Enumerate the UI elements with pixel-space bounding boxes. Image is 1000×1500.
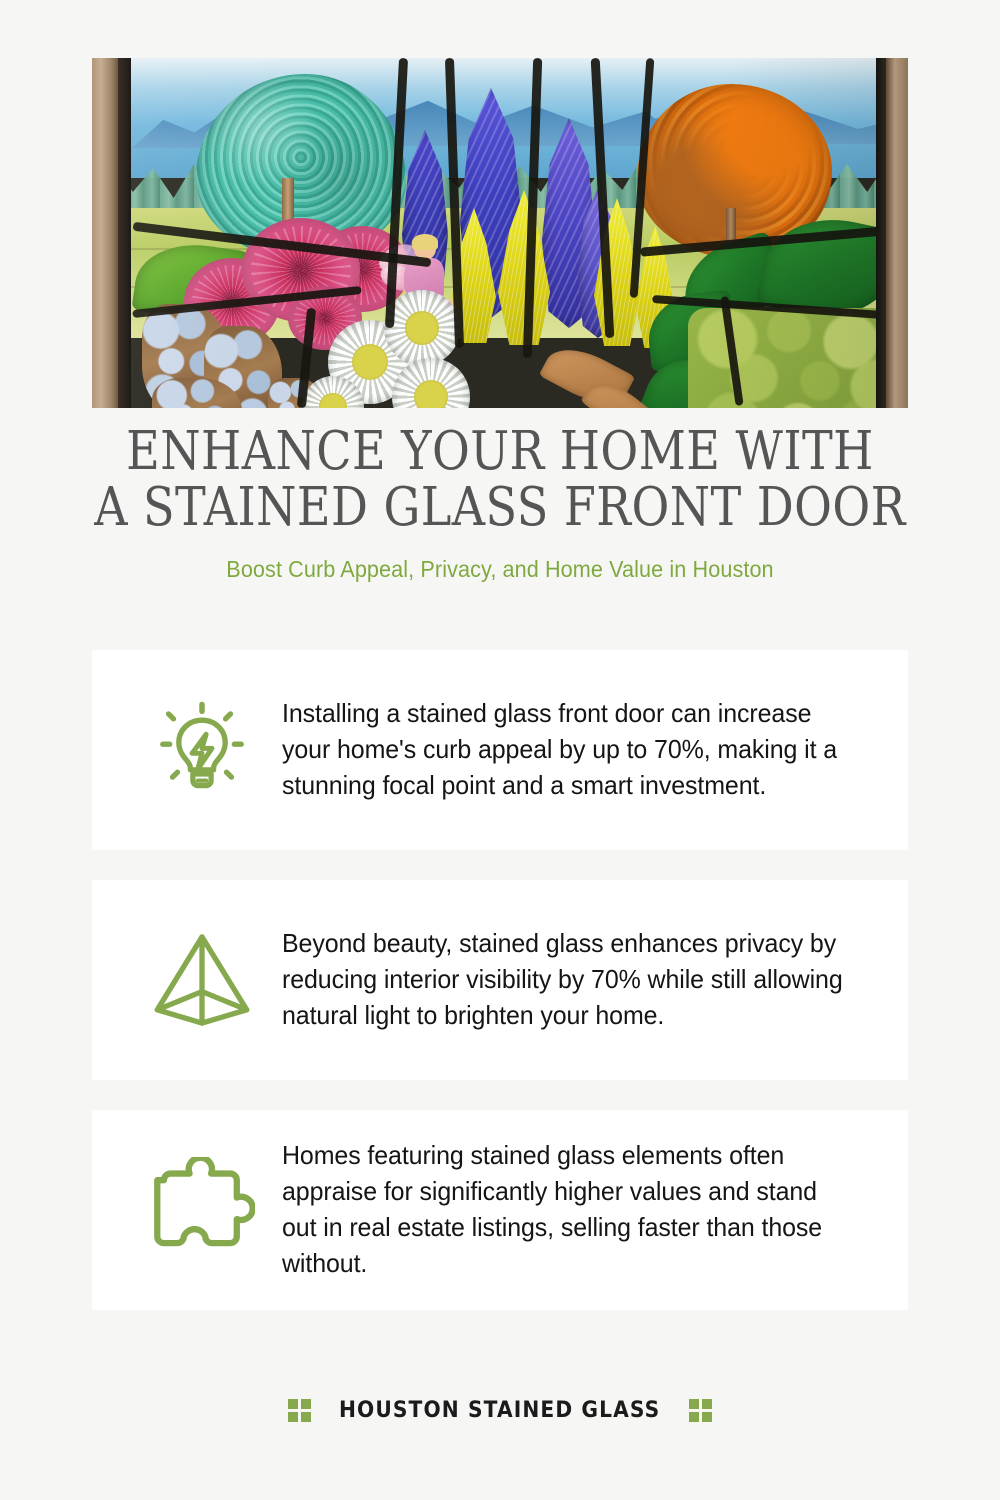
stained-glass-artwork [92, 58, 908, 408]
puzzle-piece-icon [122, 1157, 282, 1263]
footer-logo: HOUSTON STAINED GLASS [0, 1398, 1000, 1423]
benefit-card-home-value: Homes featuring stained glass elements o… [92, 1110, 908, 1310]
inner-frame-right [876, 58, 886, 408]
benefit-card-text: Homes featuring stained glass elements o… [282, 1138, 850, 1282]
brand-name: HOUSTON STAINED GLASS [339, 1398, 660, 1423]
logo-squares-right-icon [689, 1399, 712, 1422]
white-daisy-flower [384, 290, 460, 366]
title-block: ENHANCE YOUR HOME WITH A STAINED GLASS F… [0, 424, 1000, 583]
benefit-card-text: Beyond beauty, stained glass enhances pr… [282, 926, 850, 1034]
wooden-frame-right [886, 58, 908, 408]
pyramid-prism-icon [122, 927, 282, 1033]
green-grape-cluster [688, 308, 908, 408]
page-title: ENHANCE YOUR HOME WITH A STAINED GLASS F… [65, 424, 935, 536]
benefit-cards-list: Installing a stained glass front door ca… [92, 650, 908, 1340]
hero-stained-glass-image [92, 58, 908, 408]
inner-frame-left [118, 58, 131, 408]
page-subtitle: Boost Curb Appeal, Privacy, and Home Val… [30, 556, 970, 583]
benefit-card-curb-appeal: Installing a stained glass front door ca… [92, 650, 908, 850]
wooden-frame-left [92, 58, 118, 408]
benefit-card-privacy: Beyond beauty, stained glass enhances pr… [92, 880, 908, 1080]
lightbulb-bolt-icon [122, 697, 282, 803]
benefit-card-text: Installing a stained glass front door ca… [282, 696, 850, 804]
logo-squares-left-icon [288, 1399, 311, 1422]
